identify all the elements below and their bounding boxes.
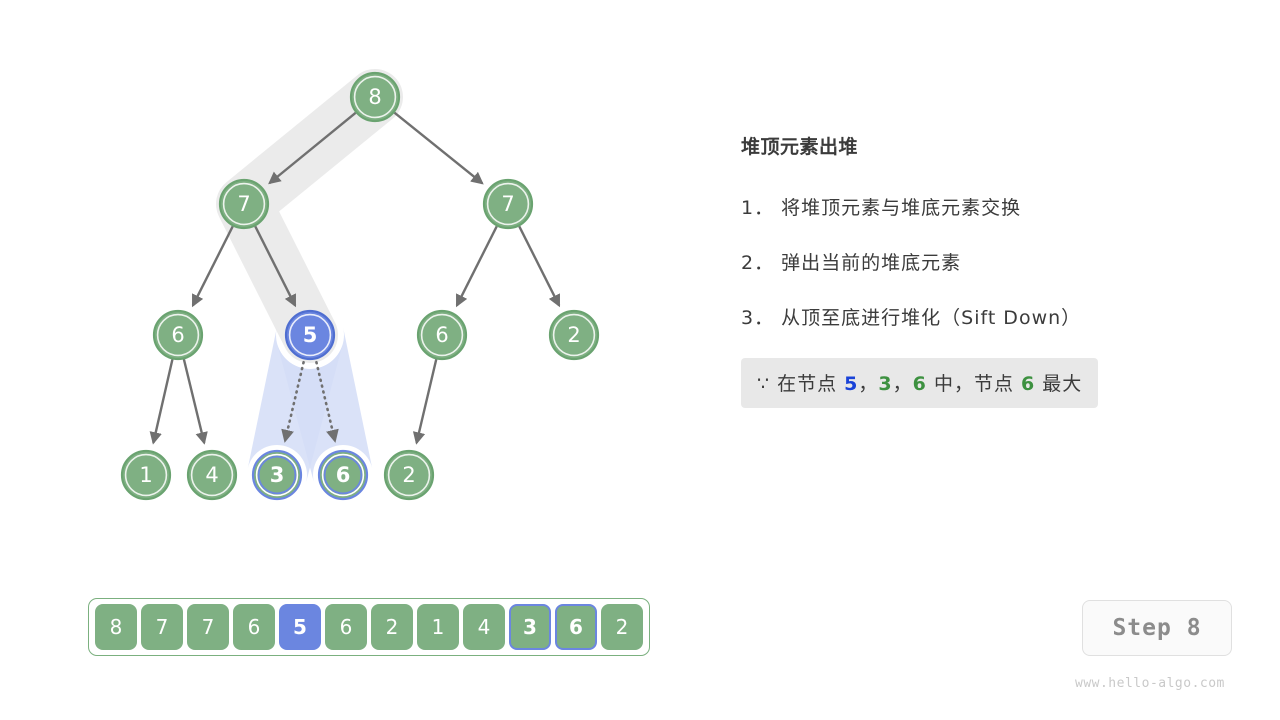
note-suffix: 最大 <box>1035 373 1082 395</box>
node-label: 2 <box>402 463 415 487</box>
node-label: 6 <box>336 463 351 487</box>
tree-node-3: 3 <box>253 451 301 499</box>
array-cell-1: 7 <box>141 604 183 650</box>
array-cell-6: 2 <box>371 604 413 650</box>
tree-node-1: 1 <box>122 451 170 499</box>
tree-svg: 877656214362 <box>0 0 700 560</box>
array-cell-2: 7 <box>187 604 229 650</box>
note-value-1: 5 <box>844 373 858 395</box>
array-cell-9: 3 <box>509 604 551 650</box>
tree-node-4: 4 <box>188 451 236 499</box>
node-label: 3 <box>270 463 285 487</box>
note-value-2: 3 <box>878 373 892 395</box>
array-cell-8: 4 <box>463 604 505 650</box>
node-label: 6 <box>435 323 448 347</box>
tree-node-5: 5 <box>286 311 334 359</box>
watermark: www.hello-algo.com <box>1075 676 1225 691</box>
explanation-panel: 堆顶元素出堆 1． 将堆顶元素与堆底元素交换 2． 弹出当前的堆底元素 3． 从… <box>741 132 1211 408</box>
tree-node-2: 2 <box>385 451 433 499</box>
node-label: 7 <box>501 192 514 216</box>
tree-node-2: 2 <box>550 311 598 359</box>
node-label: 2 <box>567 323 580 347</box>
array-cell-11: 2 <box>601 604 643 650</box>
step-badge: Step 8 <box>1082 600 1232 656</box>
node-label: 5 <box>303 323 318 347</box>
node-label: 1 <box>139 463 152 487</box>
note-value-3: 6 <box>913 373 927 395</box>
page-title: 堆顶元素出堆 <box>741 132 1211 159</box>
note-prefix: ∵ 在节点 <box>757 373 844 395</box>
node-label: 6 <box>171 323 184 347</box>
step-item-3: 3． 从顶至底进行堆化（Sift Down） <box>741 303 1211 330</box>
node-label: 4 <box>205 463 218 487</box>
array-cell-5: 6 <box>325 604 367 650</box>
note-separator-2: ， <box>893 373 913 395</box>
tree-node-6: 6 <box>154 311 202 359</box>
array-cell-4: 5 <box>279 604 321 650</box>
step-item-2: 2． 弹出当前的堆底元素 <box>741 248 1211 275</box>
step-item-1: 1． 将堆顶元素与堆底元素交换 <box>741 193 1211 220</box>
array-cell-0: 8 <box>95 604 137 650</box>
array-cell-3: 6 <box>233 604 275 650</box>
note-box: ∵ 在节点 5，3，6 中，节点 6 最大 <box>741 358 1098 408</box>
tree-node-7: 7 <box>484 180 532 228</box>
note-value-max: 6 <box>1021 373 1035 395</box>
tree-node-6: 6 <box>418 311 466 359</box>
array-cell-10: 6 <box>555 604 597 650</box>
tree-node-8: 8 <box>351 73 399 121</box>
note-middle: 中，节点 <box>927 373 1021 395</box>
tree-diagram: 877656214362 <box>0 0 700 560</box>
note-separator-1: ， <box>858 373 878 395</box>
array-representation: 877656214362 <box>88 598 650 656</box>
tree-node-7: 7 <box>220 180 268 228</box>
array-container: 877656214362 <box>88 598 650 656</box>
node-label: 7 <box>237 192 250 216</box>
node-label: 8 <box>368 85 381 109</box>
array-cell-7: 1 <box>417 604 459 650</box>
tree-node-6: 6 <box>319 451 367 499</box>
